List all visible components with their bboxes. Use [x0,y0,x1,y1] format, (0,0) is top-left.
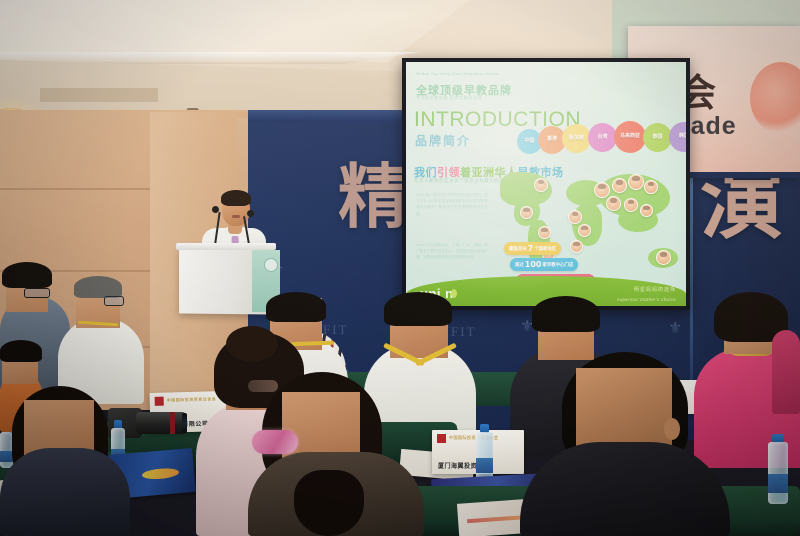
callout-number: 100 [525,260,542,269]
callout-suffix: 家早教中心门店 [543,262,574,268]
audience-member-body [0,448,130,536]
speaker-eye-right [240,204,245,206]
water-bottle [768,434,788,504]
audience-member-hair [384,292,452,326]
speaker-hair [221,190,251,206]
eyeglasses-icon [24,288,50,298]
country-label: 香港 [547,137,557,143]
microphone-icon [247,210,254,217]
country-label: 韩国 [679,134,686,140]
country-label: 中国 [524,139,534,145]
hair-tie [248,380,278,392]
conference-room-photo: CIFIT ⚜ CIFIT ⚜ CIFIT ⚜ CIFIT ⚜ CIFIT ⚜ … [0,0,800,536]
microphone-icon [212,206,219,213]
country-bubble-2: 新加坡 [562,124,591,153]
slide-footer-english: superstar mother's choice [617,297,676,302]
speaker-eye-left [228,204,233,206]
audience-member-hair [0,340,42,362]
ponytail [294,470,364,536]
audience-member-hair [74,276,122,298]
callout-prefix: 覆盖亚洲 [509,246,527,252]
callout-bubble-0: 覆盖亚洲7个国家地区 [504,242,561,255]
audience-member-hair [532,296,600,332]
camera-lens-ring [170,412,175,434]
speaker-mouth [232,215,240,218]
bottle-label [476,458,493,473]
audience-member-hair [2,262,52,288]
camera-front-element [182,413,187,433]
country-bubble-6: 韩国 [669,122,686,152]
bottle-body [476,432,493,482]
podium-emblem [264,258,278,272]
cifit-logo-glyph: ⚜ [668,318,682,338]
banner-flower-graphic [750,62,800,134]
hair-bun [226,326,278,362]
backdrop-character-left: 精 [338,162,408,232]
water-bottle [476,424,493,482]
callout-prefix: 超过 [515,262,524,268]
podium-top-surface [176,243,276,250]
country-label: 台湾 [597,135,607,141]
eyeglasses-icon [104,296,124,306]
bottle-body [768,442,788,504]
country-label: 马来西亚 [620,134,640,140]
slide-paragraph-1: Union是一家专注于早期教育的国际机构，致力于为 0-6 岁宝宝及家庭提供科学… [416,192,488,217]
audience-member-ear [664,418,680,440]
country-bubble-4: 马来西亚 [614,121,646,153]
country-label: 新加坡 [569,136,584,142]
bottle-label [768,474,788,493]
hair-scrunchie [252,430,298,454]
callout-number: 7 [528,244,534,253]
name-card-small-text: 中国国际投资贸易洽谈会 [167,396,217,403]
country-label: 泰国 [652,135,662,141]
slide-footer-chinese: 明星妈妈的选择 [634,286,676,293]
country-bubble-3: 台湾 [588,123,617,152]
camera-lens [136,412,186,434]
union-logo-dot [451,289,457,298]
slide-heading-chinese: 品牌简介 [415,132,471,149]
audience-member-body [772,330,800,414]
slide-eyebrow: Global Top Early Class Education Brand [416,71,498,76]
slide-subtitle-chinese: 专业的早教机构 值得信赖的选择 [416,95,482,101]
country-bubble-row: 中国 香港 新加坡 台湾 马来西亚 泰国 韩国 [517,121,686,157]
ceiling-vent [40,88,158,102]
callout-suffix: 个国家地区 [534,246,556,252]
country-bubble-5: 泰国 [643,123,672,152]
audience-member-hair [266,292,326,322]
brochure-logo [142,468,179,481]
name-card-logo [437,434,446,443]
projection-screen: Global Top Early Class Education Brand 全… [406,62,686,306]
callout-bubble-1: 超过100家早教中心门店 [510,258,578,271]
slide-paragraph-2: Union 已在中国北京、上海、广州、深圳、厦门等多个城市设立中心，并持续向亚洲… [416,242,488,261]
